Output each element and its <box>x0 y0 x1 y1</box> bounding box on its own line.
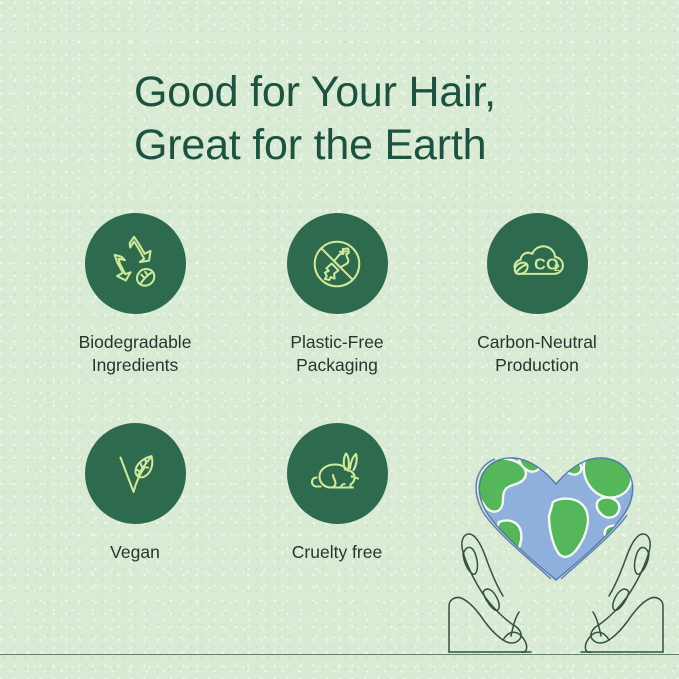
badge-circle <box>85 213 186 314</box>
badge-row-1: Biodegradable Ingredients Plastic-Free P… <box>0 213 679 413</box>
no-plastic-bottle-icon <box>306 233 368 295</box>
badge-plastic-free[interactable]: Plastic-Free Packaging <box>247 213 427 377</box>
earth-heart-svg <box>443 440 669 660</box>
badge-caption: Plastic-Free Packaging <box>247 331 427 377</box>
badge-circle: CO 2 <box>487 213 588 314</box>
rabbit-icon <box>305 442 369 506</box>
badge-caption: Carbon-Neutral Production <box>447 331 627 377</box>
badge-caption: Cruelty free <box>247 541 427 564</box>
svg-text:2: 2 <box>554 263 560 274</box>
co2-cloud-leaf-icon: CO 2 <box>505 232 569 296</box>
vegan-leaf-v-icon <box>104 443 166 505</box>
badge-caption: Biodegradable Ingredients <box>45 331 225 377</box>
badge-biodegradable[interactable]: Biodegradable Ingredients <box>45 213 225 377</box>
hands-holding-heart-earth-illustration <box>443 440 669 660</box>
badge-circle <box>287 213 388 314</box>
badge-circle <box>287 423 388 524</box>
badge-cruelty-free[interactable]: Cruelty free <box>247 423 427 564</box>
recycle-leaf-icon <box>104 233 166 295</box>
badge-carbon-neutral[interactable]: CO 2 Carbon-Neutral Production <box>447 213 627 377</box>
page-title: Good for Your Hair, Great for the Earth <box>134 66 604 172</box>
badge-circle <box>85 423 186 524</box>
globe-body <box>443 440 669 600</box>
ground-line <box>0 654 679 655</box>
badge-caption: Vegan <box>45 541 225 564</box>
badge-vegan[interactable]: Vegan <box>45 423 225 564</box>
